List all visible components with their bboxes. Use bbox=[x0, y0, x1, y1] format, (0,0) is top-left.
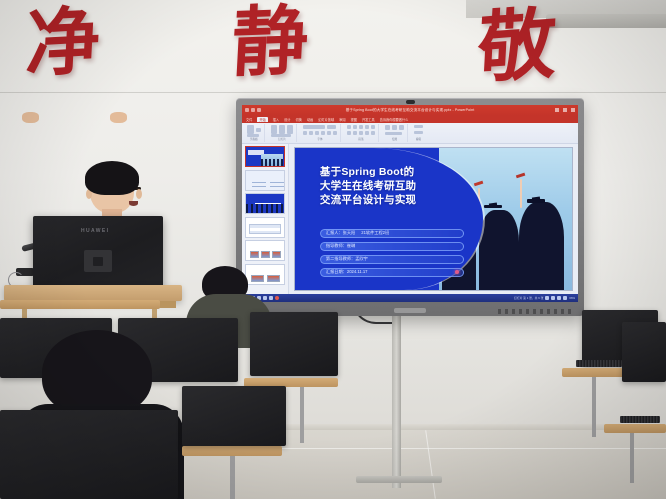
presenter-mouth bbox=[129, 201, 138, 206]
ppt-title-bar: 基于Spring Boot的大学生在线考研互助交流平台设计与实现.pptx - … bbox=[242, 105, 578, 116]
ribbon-group-label: 绘图 bbox=[385, 137, 404, 141]
desk-leg bbox=[300, 387, 304, 443]
board-screen[interactable]: 基于Spring Boot的大学生在线考研互助交流平台设计与实现.pptx - … bbox=[242, 105, 578, 302]
student-monitor[interactable] bbox=[182, 386, 286, 446]
view-normal-icon[interactable] bbox=[545, 296, 549, 300]
interactive-smart-board[interactable]: 基于Spring Boot的大学生在线考研互助交流平台设计与实现.pptx - … bbox=[236, 98, 584, 316]
slide-title: 基于Spring Boot的 大学生在线考研互助 交流平台设计与实现 bbox=[320, 166, 481, 208]
ppt-status-bar[interactable]: 幻灯片 第 1 张，共 6 张 66% bbox=[242, 294, 578, 302]
info-secondary: 21软件工程2班 bbox=[361, 230, 389, 236]
raised-arm bbox=[520, 179, 522, 207]
info-primary: 指导教师：崔琳 bbox=[326, 243, 355, 249]
presenter-ear bbox=[136, 189, 142, 199]
board-bezel: 基于Spring Boot的大学生在线考研互助交流平台设计与实现.pptx - … bbox=[236, 98, 584, 316]
slide-thumbnail[interactable]: 1 bbox=[245, 146, 285, 167]
wall-character-jing-clean: 净 bbox=[24, 4, 102, 82]
accent-dot-icon bbox=[455, 270, 459, 274]
board-brand-logo bbox=[394, 308, 426, 313]
ribbon-group-label: 字体 bbox=[303, 137, 337, 141]
mortarboard-worn bbox=[484, 205, 502, 209]
browser-icon[interactable] bbox=[269, 296, 273, 300]
maximize-icon[interactable] bbox=[563, 108, 567, 112]
slide-thumbnail[interactable]: 3 bbox=[245, 193, 285, 214]
floor-tile-line bbox=[425, 430, 436, 498]
mortarboard-worn bbox=[527, 199, 545, 203]
ceiling-pipe bbox=[546, 14, 666, 28]
info-row-second-advisor: 第二指导教师：孟欣宇 bbox=[320, 255, 464, 265]
desk-leg bbox=[630, 433, 634, 483]
ribbon-group-editing[interactable]: 编辑 bbox=[411, 124, 426, 142]
board-ports bbox=[498, 309, 572, 314]
wall-character-jing-respect: 敬 bbox=[476, 5, 559, 88]
presenter-hand-left bbox=[22, 112, 39, 123]
monitor-brand-label: HUAWEI bbox=[81, 228, 109, 234]
tab-slideshow[interactable]: 幻灯片放映 bbox=[318, 117, 334, 122]
ribbon-group-label: 剪贴板 bbox=[247, 137, 261, 141]
info-primary: 汇报人：张天阳 bbox=[326, 230, 355, 236]
slide-thumbnail[interactable]: 2 bbox=[245, 170, 285, 191]
ppt-document-title: 基于Spring Boot的大学生在线考研互助交流平台设计与实现.pptx - … bbox=[346, 108, 475, 113]
student-desk bbox=[604, 424, 666, 433]
ribbon-group-paragraph[interactable]: 段落 bbox=[344, 124, 379, 142]
tab-design[interactable]: 设计 bbox=[284, 117, 290, 122]
ribbon[interactable]: 剪贴板 幻灯片 字体 段落 bbox=[242, 123, 578, 144]
podium-monitor[interactable]: HUAWEI bbox=[33, 216, 163, 288]
ribbon-tab-bar[interactable]: 文件 开始 插入 设计 切换 动画 幻灯片放映 审阅 视图 开发工具 告诉我你想… bbox=[242, 116, 578, 123]
close-icon[interactable] bbox=[571, 108, 575, 112]
slide-title-line-3: 交流平台设计与实现 bbox=[320, 194, 481, 208]
save-icon[interactable] bbox=[245, 108, 249, 112]
slide-thumbnail[interactable]: 4 bbox=[245, 217, 285, 238]
tab-developer[interactable]: 开发工具 bbox=[362, 117, 375, 122]
presenter-hand-right bbox=[110, 112, 127, 123]
undo-icon[interactable] bbox=[251, 108, 255, 112]
student-keyboard[interactable] bbox=[576, 360, 622, 367]
tab-insert[interactable]: 插入 bbox=[273, 117, 279, 122]
slide-title-line-1: 基于Spring Boot的 bbox=[320, 166, 481, 180]
status-right: 幻灯片 第 1 张，共 6 张 66% bbox=[514, 296, 575, 300]
student-desk bbox=[182, 446, 282, 456]
student-monitor[interactable] bbox=[250, 312, 338, 376]
tossed-mortarboard bbox=[516, 172, 525, 177]
info-primary: 第二指导教师：孟欣宇 bbox=[326, 256, 368, 262]
ribbon-group-font[interactable]: 字体 bbox=[300, 124, 341, 142]
slide-thumbnail-pane[interactable]: 1 2 3 bbox=[242, 144, 289, 294]
student-desk bbox=[0, 300, 160, 309]
wall-seam bbox=[0, 92, 666, 93]
view-slideshow-icon[interactable] bbox=[563, 296, 567, 300]
status-slide-counter: 幻灯片 第 1 张，共 6 张 bbox=[514, 296, 543, 300]
camera-icon bbox=[406, 100, 415, 104]
slide-thumbnail[interactable]: 5 bbox=[245, 240, 285, 261]
ribbon-group-label: 编辑 bbox=[414, 137, 423, 141]
desk-leg bbox=[592, 377, 596, 437]
info-row-date: 汇报日期：2024.11.17 bbox=[320, 268, 464, 278]
info-primary: 汇报日期：2024.11.17 bbox=[326, 269, 368, 275]
view-reading-icon[interactable] bbox=[557, 296, 561, 300]
student-monitor[interactable] bbox=[0, 410, 178, 499]
tab-transitions[interactable]: 切换 bbox=[296, 117, 302, 122]
board-stand-foot bbox=[356, 476, 442, 483]
student-keyboard[interactable] bbox=[620, 416, 660, 423]
ribbon-group-clipboard[interactable]: 剪贴板 bbox=[244, 124, 265, 142]
tab-animations[interactable]: 动画 bbox=[307, 117, 313, 122]
wall-character-jing-quiet: 静 bbox=[230, 3, 310, 82]
graduate-figure bbox=[519, 202, 564, 290]
info-row-advisor: 指导教师：崔琳 bbox=[320, 242, 464, 252]
ppt-workspace: 1 2 3 bbox=[242, 144, 578, 294]
slide-thumbnail[interactable]: 6 bbox=[245, 264, 285, 285]
vesa-mount bbox=[84, 250, 112, 272]
student-monitor[interactable] bbox=[622, 322, 666, 382]
minimize-icon[interactable] bbox=[555, 108, 559, 112]
explorer-icon[interactable] bbox=[263, 296, 267, 300]
tab-home[interactable]: 开始 bbox=[257, 117, 267, 122]
board-stand-post bbox=[392, 316, 401, 488]
tab-review[interactable]: 审阅 bbox=[339, 117, 345, 122]
tell-me-box[interactable]: 告诉我你想要做什么 bbox=[380, 117, 409, 122]
quick-access-toolbar[interactable] bbox=[245, 108, 261, 112]
tab-view[interactable]: 视图 bbox=[351, 117, 357, 122]
redo-icon[interactable] bbox=[257, 108, 261, 112]
desk-leg bbox=[230, 456, 235, 499]
ribbon-group-label: 段落 bbox=[347, 137, 375, 141]
info-row-presenter: 汇报人：张天阳 21软件工程2班 bbox=[320, 229, 464, 239]
graduate-figure bbox=[479, 210, 519, 290]
view-sorter-icon[interactable] bbox=[551, 296, 555, 300]
ribbon-group-drawing[interactable]: 绘图 bbox=[382, 124, 408, 142]
podium-top bbox=[4, 285, 182, 301]
tab-file[interactable]: 文件 bbox=[246, 117, 252, 122]
window-controls[interactable] bbox=[555, 108, 575, 112]
slide-title-line-2: 大学生在线考研互助 bbox=[320, 180, 481, 194]
current-slide[interactable]: 基于Spring Boot的 大学生在线考研互助 交流平台设计与实现 汇报人：张… bbox=[294, 147, 573, 291]
classroom-scene: 净 静 敬 基于Spring Boot的大学生在 bbox=[0, 0, 666, 499]
slide-info-list: 汇报人：张天阳 21软件工程2班 指导教师：崔琳 第二指导教师：孟欣宇 bbox=[320, 229, 464, 278]
zoom-level[interactable]: 66% bbox=[569, 296, 575, 300]
powerpoint-taskbar-icon[interactable] bbox=[275, 296, 279, 300]
ribbon-group-slides[interactable]: 幻灯片 bbox=[268, 124, 297, 142]
presenter-hair bbox=[85, 161, 139, 195]
ribbon-group-label: 幻灯片 bbox=[271, 137, 293, 141]
slide-editing-stage[interactable]: 基于Spring Boot的 大学生在线考研互助 交流平台设计与实现 汇报人：张… bbox=[289, 144, 578, 294]
